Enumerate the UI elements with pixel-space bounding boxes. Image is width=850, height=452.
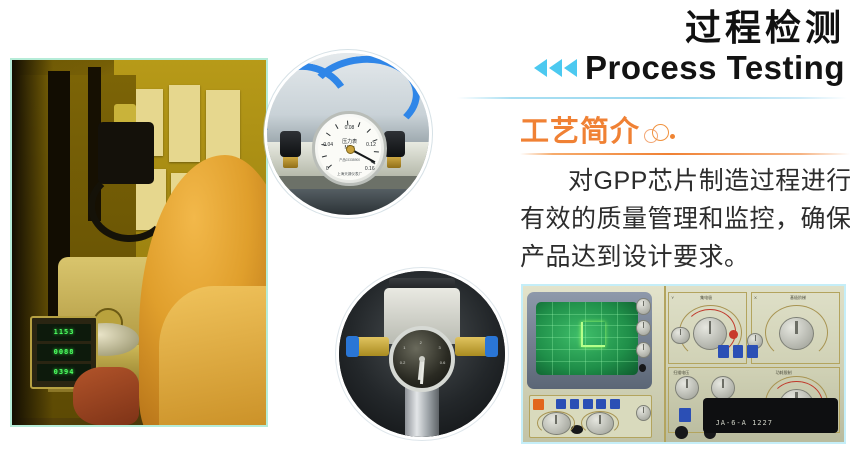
header-divider bbox=[457, 97, 847, 99]
gauge-serial: 产品0333B900 bbox=[339, 157, 360, 162]
curve-tracer-photo: Y 集电极 X 基极阶梯 扫描电压 功耗限制 bbox=[521, 284, 846, 444]
cleanroom-operator-photo: 1153 0088 0394 bbox=[10, 58, 268, 427]
section-title: 工艺简介 bbox=[520, 116, 640, 148]
readout-line-2: 0088 bbox=[54, 348, 75, 356]
gauge-tick-008: 0.08 bbox=[345, 125, 355, 131]
gauge-tick-012: 0.12 bbox=[366, 142, 376, 148]
operator-hand bbox=[73, 367, 139, 425]
blue-fitting-ring bbox=[485, 336, 498, 358]
page-title-en-row: Process Testing bbox=[534, 50, 845, 86]
gauge-tick-0: 0 bbox=[326, 166, 329, 172]
gauge-tick-004: 0.04 bbox=[323, 142, 333, 148]
panel-label-x: X bbox=[754, 295, 757, 300]
panel-label-collector: 集电极 bbox=[700, 295, 712, 301]
regulator-gauge-dial: 1 2 3 0.2 0.6 bbox=[389, 326, 455, 392]
equipment-code: JA-6-A 1227 bbox=[716, 419, 773, 427]
panel-label-base: 基极阶梯 bbox=[790, 295, 806, 301]
section-divider bbox=[520, 153, 850, 155]
page-title-cn: 过程检测 bbox=[685, 8, 845, 48]
waveform-trace bbox=[581, 322, 605, 346]
circles-decoration-icon bbox=[643, 122, 679, 148]
tube-fitting bbox=[280, 131, 301, 157]
header: 过程检测 Process Testing bbox=[455, 4, 847, 94]
air-regulator-photo: 1 2 3 0.2 0.6 bbox=[336, 268, 508, 440]
panel-label-y: Y bbox=[671, 295, 674, 300]
triangle-left-icon bbox=[564, 59, 577, 77]
section-heading-row: 工艺简介 bbox=[520, 108, 850, 148]
tracer-left-panel bbox=[523, 286, 666, 442]
dark-accessory bbox=[703, 398, 838, 432]
readout-line-1: 1153 bbox=[54, 328, 75, 336]
crt-screen bbox=[536, 302, 638, 376]
page-title-en: Process Testing bbox=[585, 50, 845, 86]
section-heading: 工艺简介 bbox=[520, 108, 850, 155]
gauge-brand: 上海天湖仪表厂 bbox=[337, 172, 362, 177]
slide-canvas: 过程检测 Process Testing 工艺简介 对GPP芯片制造过程进行有效… bbox=[0, 0, 850, 452]
pneumatic-gauge-photo: 0 0.04 0.08 0.12 0.16 压力表 MPa 产品0333B900… bbox=[264, 50, 432, 218]
readout-line-3: 0394 bbox=[54, 368, 75, 376]
pressure-gauge-dial: 0 0.04 0.08 0.12 0.16 压力表 MPa 产品0333B900… bbox=[312, 111, 387, 186]
left-control-strip bbox=[529, 395, 652, 438]
body-paragraph: 对GPP芯片制造过程进行有效的质量管理和监控，确保产品达到设计要求。 bbox=[520, 162, 850, 276]
triangle-left-icon bbox=[534, 59, 547, 77]
panel-label-sweep: 扫描电压 bbox=[673, 370, 689, 376]
crt-bezel bbox=[527, 292, 651, 389]
gauge-tick-016: 0.16 bbox=[365, 166, 375, 172]
regulator-center-pin bbox=[419, 356, 425, 362]
blue-fitting-ring bbox=[346, 336, 359, 358]
triangle-left-icon bbox=[549, 59, 562, 77]
panel-label-power: 功耗限制 bbox=[776, 370, 792, 376]
triangle-left-icon-group bbox=[534, 59, 579, 77]
